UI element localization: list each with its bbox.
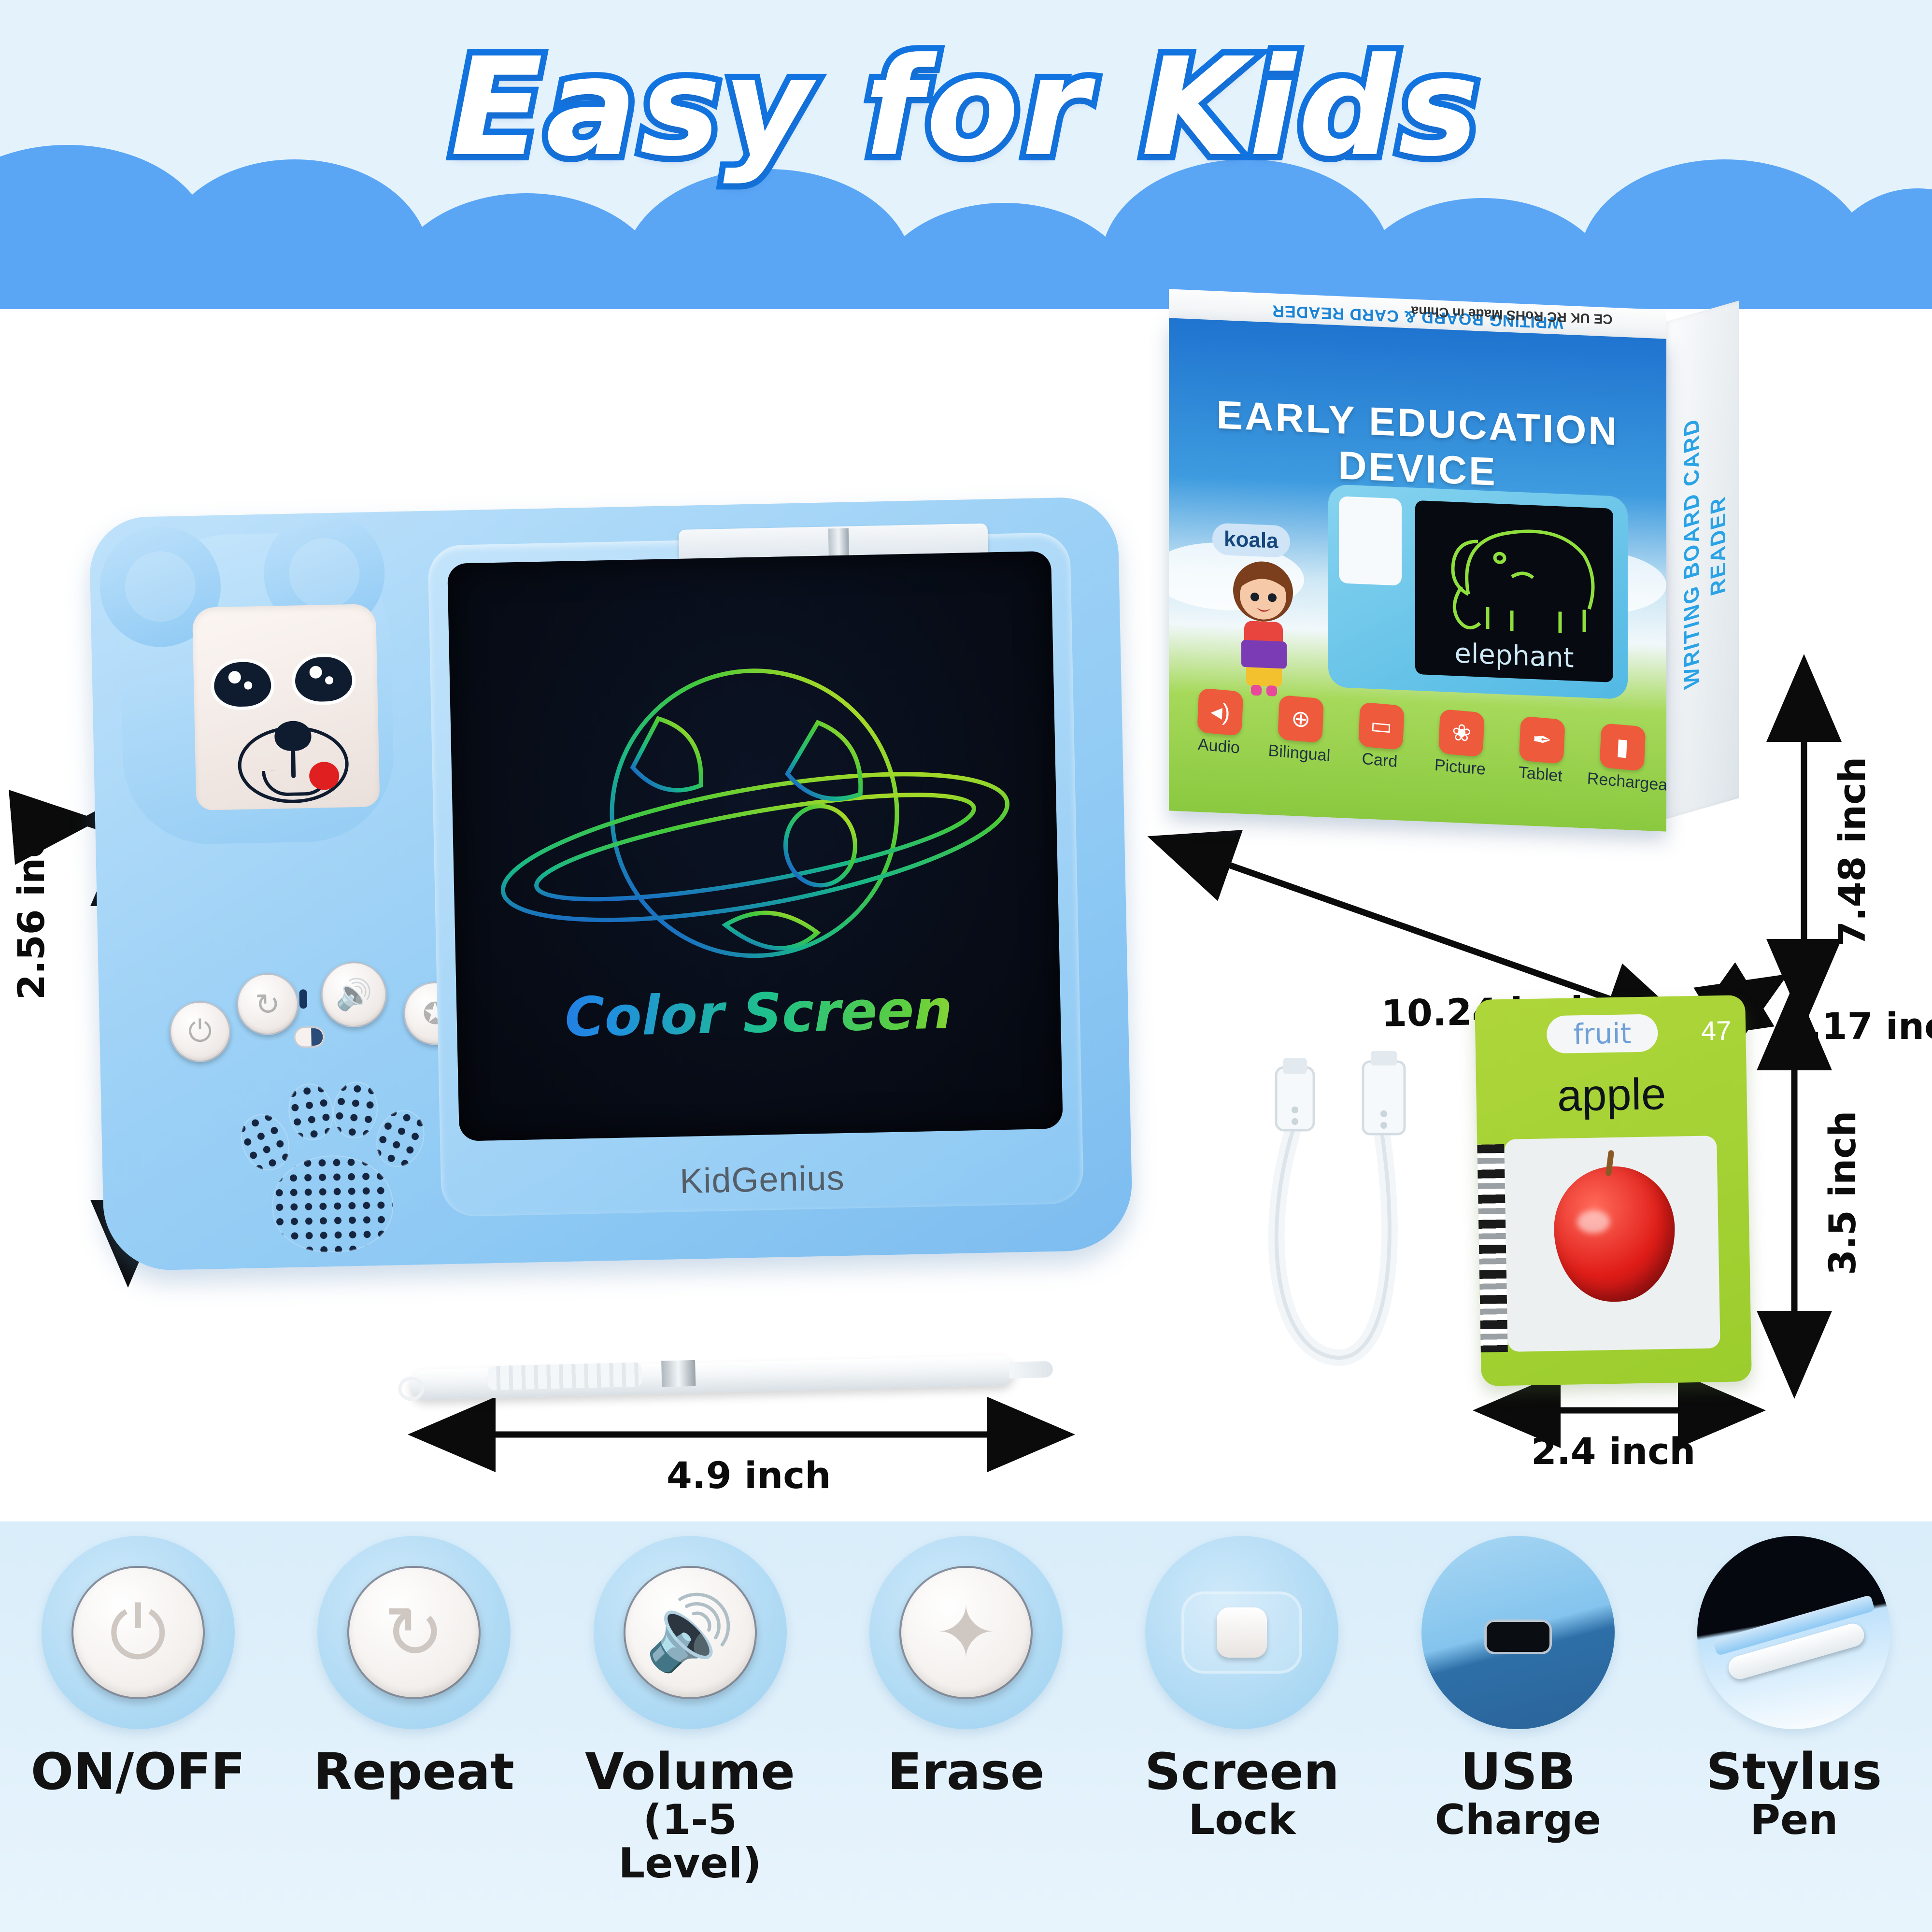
erase-button[interactable]: ✦ — [899, 1566, 1033, 1699]
color-screen-label: Color Screen — [456, 976, 1061, 1051]
volume-button[interactable]: 🔊 — [624, 1566, 757, 1699]
bear-eye-left-icon — [213, 662, 271, 707]
package-bear-face — [1339, 496, 1402, 585]
legend-label-main: Repeat — [313, 1742, 514, 1801]
legend-label: Volume (1-5 Level) — [565, 1746, 816, 1886]
device-repeat-button[interactable]: ↻ — [236, 973, 299, 1036]
apple-image — [1553, 1165, 1676, 1303]
legend-item-stylus-pen[interactable]: Stylus Pen — [1668, 1536, 1919, 1842]
status-led-indicator — [299, 989, 307, 1009]
legend-label-main: USB — [1461, 1742, 1576, 1801]
legend-label: Screen Lock — [1116, 1746, 1367, 1842]
legend-label: ON/OFF — [13, 1746, 264, 1798]
feature-label: Audio — [1185, 734, 1253, 759]
planet-drawing — [447, 551, 1063, 1141]
dim-package-height: 7.48 inch — [1831, 757, 1874, 947]
legend-label-main: Volume — [585, 1742, 795, 1801]
package-girl-illustration — [1212, 552, 1314, 701]
flashcard-number: 47 — [1701, 1015, 1731, 1047]
package-device-illustration: elephant — [1328, 484, 1628, 699]
feature-label: Rechargeable — [1587, 769, 1655, 794]
legend-label-main: Screen — [1145, 1742, 1339, 1801]
feature-label: Card — [1346, 748, 1414, 773]
header-banner: MiLK Easy for Kids Easy for Kids — [0, 0, 1932, 309]
device-volume-button[interactable]: 🔊 — [320, 961, 387, 1028]
lock-switch-housing[interactable] — [1181, 1591, 1302, 1674]
package-screen-word: elephant — [1415, 636, 1613, 676]
elephant-drawing — [1415, 500, 1613, 639]
feature-item: ▮ Rechargeable — [1587, 722, 1657, 794]
writing-tablet-device[interactable]: ⏻ ↻ 🔊 ✪ — [89, 497, 1133, 1271]
flashcard-category-badge: fruit — [1547, 1014, 1658, 1053]
legend-item-erase[interactable]: ✦ Erase — [840, 1536, 1092, 1798]
screen-bezel: Color Screen KidGenius — [427, 532, 1084, 1217]
package-front-panel: EARLY EDUCATION DEVICE — [1169, 318, 1666, 831]
repeat-button[interactable]: ↻ — [347, 1566, 481, 1699]
animal-icon: ❀ — [1438, 709, 1485, 757]
globe-icon: ⊕ — [1278, 695, 1324, 743]
feature-item: ❀ Picture — [1426, 708, 1496, 780]
power-icon: ⏻ — [170, 1002, 229, 1061]
screen-lock-photo — [1145, 1536, 1338, 1729]
feature-item: ✒ Tablet — [1506, 715, 1577, 787]
legend-label: Repeat — [288, 1746, 540, 1798]
usb-port-photo — [1421, 1536, 1615, 1729]
legend-item-repeat[interactable]: ↻ Repeat — [288, 1536, 540, 1798]
legend-label-sub: Lock — [1116, 1798, 1367, 1842]
legend-item-screen-lock[interactable]: Screen Lock — [1116, 1536, 1367, 1842]
device-screen-lock-switch[interactable] — [294, 1026, 325, 1048]
repeat-icon: ↻ — [238, 974, 298, 1035]
bear-face-panel — [192, 604, 380, 810]
dim-stylus-length: 4.9 inch — [667, 1454, 831, 1497]
dim-device-height: 2.56 inch — [10, 810, 53, 1000]
legend-label-main: Stylus — [1706, 1742, 1882, 1801]
feature-label: Picture — [1426, 755, 1494, 780]
legend-item-power[interactable]: ⏻ ON/OFF — [13, 1536, 264, 1798]
feature-label: Tablet — [1506, 762, 1575, 787]
volume-icon: 🔊 — [645, 1596, 735, 1669]
page-title: Easy for Kids — [0, 29, 1932, 186]
battery-icon: ▮ — [1599, 723, 1646, 771]
package-feature-icons: ◂) Audio ⊕ Bilingual ▭ Card ❀ Picture ✒ — [1177, 686, 1664, 832]
package-side-text: WRITING BOARD CARD READER — [1678, 358, 1732, 741]
feature-label: Bilingual — [1265, 741, 1334, 766]
flashcard-photo — [1504, 1136, 1720, 1352]
feature-legend-bar: ⏻ ON/OFF ↻ Repeat 🔊 — [0, 1521, 1932, 1932]
bear-tongue-icon — [309, 762, 340, 790]
legend-label-sub: Charge — [1392, 1798, 1644, 1842]
erase-icon: ✦ — [936, 1596, 996, 1669]
feature-item: ◂) Audio — [1185, 687, 1255, 759]
repeat-button-photo: ↻ — [317, 1536, 511, 1729]
legend-label: Stylus Pen — [1668, 1746, 1919, 1842]
lock-switch-knob[interactable] — [1217, 1607, 1267, 1658]
repeat-icon: ↻ — [384, 1596, 444, 1669]
legend-label: USB Charge — [1392, 1746, 1644, 1842]
device-power-button[interactable]: ⏻ — [169, 1001, 231, 1063]
legend-item-volume[interactable]: 🔊 Volume (1-5 Level) — [565, 1536, 816, 1886]
flashcard[interactable]: fruit 47 apple — [1475, 995, 1752, 1386]
paw-speaker-grille — [231, 1071, 438, 1259]
stylus-metal-ring — [661, 1360, 696, 1387]
legend-item-usb-charge[interactable]: USB Charge — [1392, 1536, 1644, 1842]
dim-package-depth: 2.17 inch — [1782, 1005, 1932, 1048]
erase-button-photo: ✦ — [869, 1536, 1063, 1729]
legend-label-main: Erase — [887, 1742, 1044, 1801]
feature-item: ⊕ Bilingual — [1265, 694, 1335, 766]
usb-charging-cable — [1222, 1048, 1473, 1406]
bear-nose-icon — [274, 721, 312, 752]
dim-card-width: 2.4 inch — [1531, 1430, 1695, 1473]
stylus-pen-photo — [1697, 1536, 1890, 1729]
package-device-screen: elephant — [1415, 500, 1613, 682]
stylus-grip — [487, 1363, 642, 1391]
bear-eye-right-icon — [295, 656, 353, 702]
lcd-writing-screen[interactable]: Color Screen — [447, 551, 1063, 1141]
dim-card-height: 3.5 inch — [1821, 1111, 1864, 1275]
legend-label-sub: (1-5 Level) — [565, 1798, 816, 1886]
speaker-icon: ◂) — [1197, 688, 1244, 736]
feature-item: ▭ Card — [1346, 701, 1416, 773]
bear-muzzle-icon — [237, 725, 349, 804]
legend-label: Erase — [840, 1746, 1092, 1798]
legend-label-sub: Pen — [1668, 1798, 1919, 1842]
bear-head-housing — [118, 531, 395, 846]
power-button[interactable]: ⏻ — [71, 1566, 205, 1699]
stylus-tip — [1009, 1361, 1053, 1378]
volume-icon: 🔊 — [322, 963, 386, 1027]
card-icon: ▭ — [1358, 702, 1405, 750]
power-icon: ⏻ — [109, 1596, 167, 1669]
stylus-pen[interactable] — [410, 1350, 1053, 1406]
volume-button-photo: 🔊 — [594, 1536, 787, 1729]
legend-label-main: ON/OFF — [31, 1742, 245, 1801]
usb-c-port-icon — [1487, 1622, 1549, 1652]
power-button-photo: ⏻ — [42, 1536, 235, 1729]
product-stage: 9.45 inch 2.56 inch 8 inch 7.48 inch 10.… — [0, 309, 1932, 1521]
product-package-box: WRITING BOARD CARD READER WRITING BOARD … — [1169, 299, 1748, 860]
flashcard-barcode-stripes — [1477, 1144, 1507, 1352]
pen-stroke-icon: ✒ — [1519, 716, 1565, 764]
package-side-panel: WRITING BOARD CARD READER — [1666, 300, 1739, 819]
device-brand-label: KidGenius — [440, 1153, 1083, 1207]
flashcard-word: apple — [1476, 1067, 1747, 1123]
